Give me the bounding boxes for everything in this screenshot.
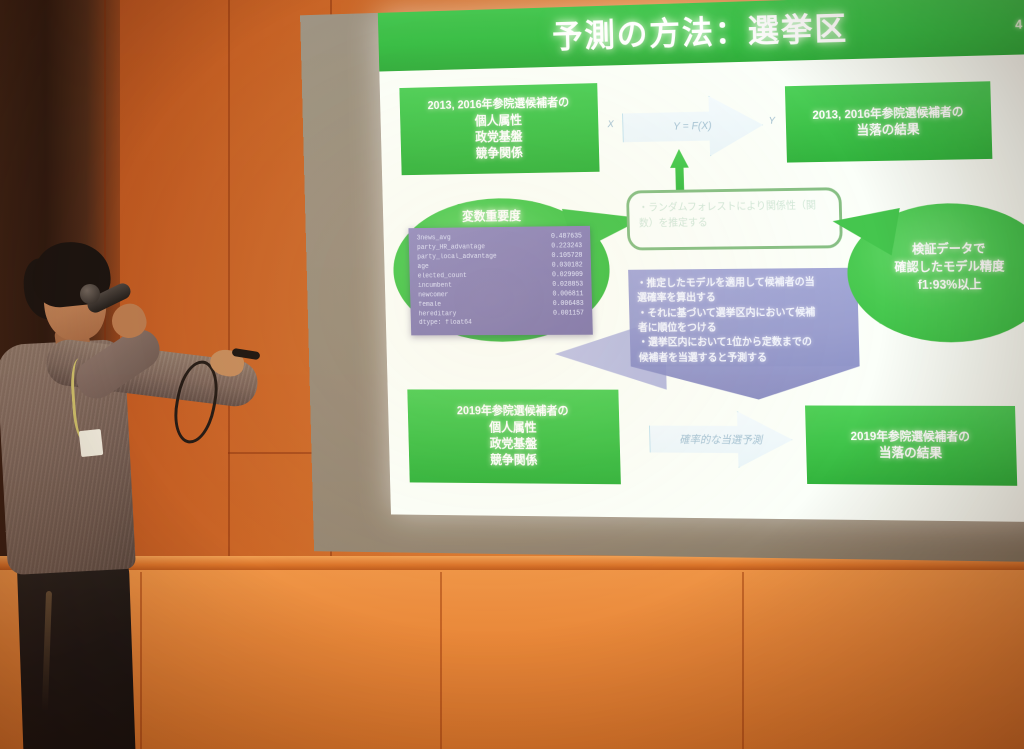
procedure-line2: 選確率を算出する — [637, 290, 849, 306]
microphone-head-icon — [80, 284, 100, 304]
formula-text: Y = F(X) — [673, 120, 712, 132]
var-value: 0.487635 — [540, 233, 582, 243]
var-value: 0.028853 — [541, 281, 583, 291]
arrow-bottom-prediction: 確率的な当選予測 — [649, 411, 794, 468]
arrow-bottom-label: 確率的な当選予測 — [679, 431, 762, 447]
arrow-up-to-formula — [670, 149, 690, 190]
box-bottom-left-line4: 競争関係 — [490, 452, 538, 469]
procedure-banner: ・推定したモデルを適用して候補者の当 選確率を算出する ・それに基づいて選挙区内… — [628, 268, 860, 367]
var-name: female — [418, 301, 441, 311]
box-top-right-line1: 2013, 2016年参院選候補者の — [812, 104, 964, 123]
var-value: 0.105728 — [541, 252, 583, 262]
procedure-line4: 者に順位をつける — [638, 320, 850, 336]
presentation-slide: 予測の方法：選挙区 4 2013, 2016年参院選候補者の 個人属性 政党基盤… — [378, 0, 1024, 522]
var-value: 0.030182 — [541, 261, 583, 271]
box-top-left: 2013, 2016年参院選候補者の 個人属性 政党基盤 競争関係 — [399, 83, 599, 175]
box-bottom-left-line1: 2019年参院選候補者の — [457, 404, 569, 419]
accuracy-balloon-text: 検証データで 確認したモデル精度 f1:93%以上 — [847, 240, 1024, 295]
table-row: hereditary 0.001157 — [419, 309, 584, 319]
procedure-line3: ・それに基づいて選挙区内において候補 — [637, 305, 849, 321]
var-name: 3news_avg — [417, 234, 451, 244]
box-bottom-left: 2019年参院選候補者の 個人属性 政党基盤 競争関係 — [407, 389, 621, 484]
presenter — [0, 232, 262, 749]
wall-panel-seam — [440, 572, 442, 749]
accuracy-line1: 検証データで — [847, 240, 1024, 260]
box-bottom-right-line1: 2019年参院選候補者の — [850, 429, 970, 445]
procedure-line5: ・選挙区内において1位から定数までの — [638, 335, 850, 351]
dtype-line: dtype: float64 — [419, 319, 472, 329]
model-note-line1: ・ランダムフォレストにより関係性（関 — [638, 198, 829, 216]
var-value: 0.223243 — [540, 242, 582, 252]
wall-panel-seam — [742, 572, 744, 749]
slide-page-number: 4 — [1015, 17, 1023, 32]
variable-importance-table: 3news_avg 0.487635 party_HR_advantage 0.… — [408, 226, 592, 336]
arrow-top-formula: Y = F(X) — [622, 95, 764, 158]
var-value: 0.001157 — [542, 309, 584, 319]
box-top-right: 2013, 2016年参院選候補者の 当落の結果 — [785, 81, 992, 162]
box-bottom-right: 2019年参院選候補者の 当落の結果 — [805, 406, 1017, 486]
accuracy-line2: 確認したモデル精度 — [847, 258, 1024, 277]
var-name: incumbent — [418, 282, 452, 292]
var-value: 0.006811 — [542, 290, 584, 300]
photo-scene: 予測の方法：選挙区 4 2013, 2016年参院選候補者の 個人属性 政党基盤… — [0, 0, 1024, 749]
box-top-left-line1: 2013, 2016年参院選候補者の — [427, 96, 569, 114]
table-row: dtype: float64 — [419, 319, 585, 329]
box-bottom-left-line2: 個人属性 — [489, 419, 537, 436]
accuracy-line3: f1:93%以上 — [848, 275, 1024, 294]
name-badge — [79, 429, 104, 457]
projection-screen: 予測の方法：選挙区 4 2013, 2016年参院選候補者の 個人属性 政党基盤… — [300, 0, 1024, 562]
procedure-line1: ・推定したモデルを適用して候補者の当 — [637, 275, 849, 292]
box-top-left-line3: 政党基盤 — [475, 128, 523, 145]
model-note-box: ・ランダムフォレストにより関係性（関 数）を推定する — [626, 187, 843, 250]
box-top-right-line2: 当落の結果 — [856, 121, 919, 139]
var-value: 0.006483 — [542, 300, 584, 310]
var-name: hereditary — [419, 310, 457, 320]
var-name: party_local_advantage — [417, 253, 497, 263]
label-y: Y — [769, 116, 776, 127]
box-top-left-line2: 個人属性 — [475, 112, 523, 129]
screen-surface: 予測の方法：選挙区 4 2013, 2016年参院選候補者の 個人属性 政党基盤… — [378, 0, 1024, 522]
model-note-line2: 数）を推定する — [639, 214, 830, 232]
var-name: elected_count — [418, 272, 467, 282]
variable-importance-title: 変数重要度 — [462, 206, 521, 225]
box-bottom-left-line3: 政党基盤 — [489, 436, 537, 453]
var-name: age — [417, 263, 429, 273]
box-bottom-right-line2: 当落の結果 — [879, 444, 943, 461]
presenter-pants — [16, 548, 135, 749]
pants-highlight — [42, 591, 52, 711]
var-value: 0.029909 — [541, 271, 583, 281]
var-name: newcomer — [418, 291, 448, 301]
procedure-line6: 候補者を当選すると予測する — [639, 350, 851, 365]
label-x: X — [607, 119, 613, 130]
box-top-left-line4: 競争関係 — [475, 145, 523, 162]
